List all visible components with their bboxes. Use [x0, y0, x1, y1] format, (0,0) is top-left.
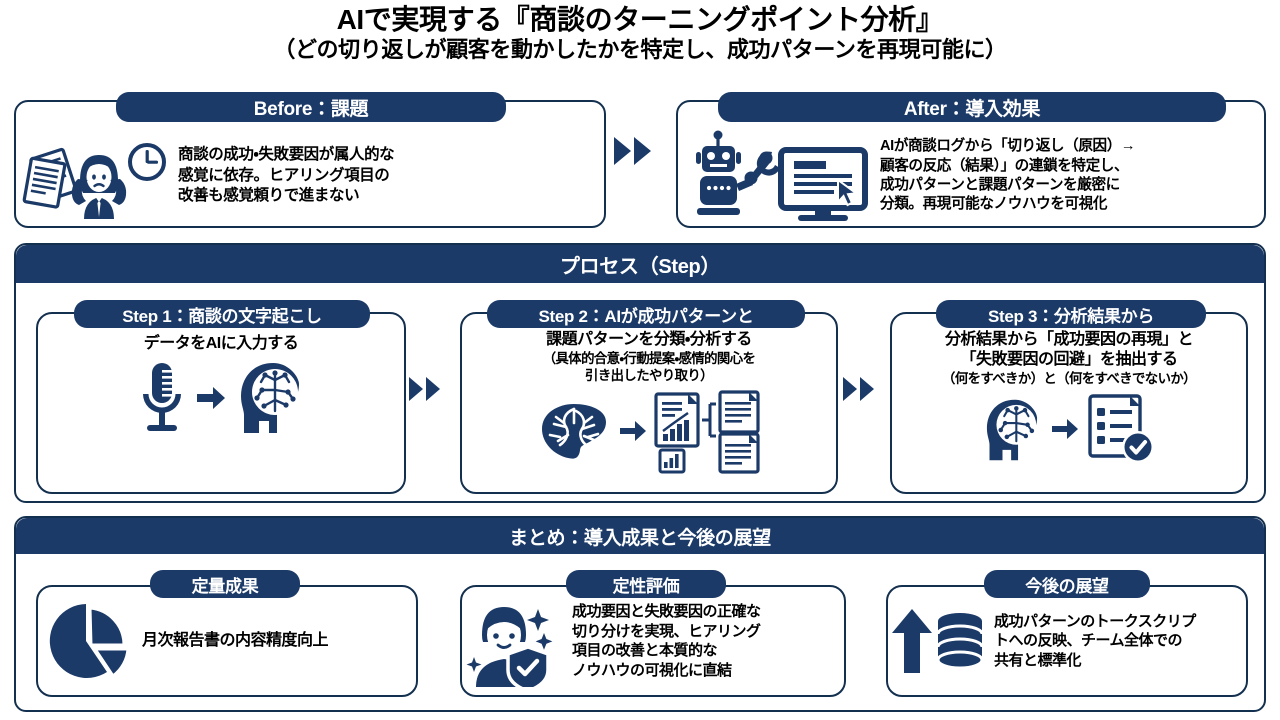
report-documents-icon — [654, 390, 762, 474]
triangle-2 — [426, 377, 440, 401]
step-2-icons — [536, 390, 762, 474]
before-label: Before：課題 — [116, 92, 506, 122]
double-triangle-arrow-icon-step1-step2 — [409, 377, 440, 401]
title-subtitle: （どの切り返しが顧客を動かしたかを特定し、成功パターンを再現可能に） — [0, 37, 1280, 63]
after-body-text: AIが商談ログから「切り返し（原因）→ 顧客の反応（結果）」の連鎖を特定し、 成… — [880, 137, 1135, 215]
robot-monitor-icon — [686, 128, 872, 224]
step-3-icons — [980, 394, 1158, 466]
step-2-lead: 課題パターンを分類・分析する — [546, 330, 752, 350]
brain-head-icon — [980, 397, 1044, 463]
after-label: After：導入効果 — [718, 92, 1226, 122]
summary-card-2-text: 成功要因と失敗要因の正確な 切り分けを実現、ヒアリング 項目の改善と本質的な ノ… — [572, 602, 761, 680]
infographic-page: AIで実現する『商談のターニングポイント分析』 （どの切り返しが顧客を動かしたか… — [0, 0, 1280, 720]
step-1-lead: データをAIに入力する — [144, 334, 299, 354]
summary-card-1-text: 月次報告書の内容精度向上 — [142, 631, 328, 652]
step-2-note: （具体的合意・行動提案・感情的関心を 引き出したやり取り） — [543, 351, 756, 384]
after-content: AIが商談ログから「切り返し（原因）→ 顧客の反応（結果）」の連鎖を特定し、 成… — [686, 126, 1262, 226]
triangle-1 — [614, 137, 631, 165]
triangle-1 — [409, 377, 423, 401]
triangle-2 — [860, 377, 874, 401]
brain-head-icon — [233, 360, 307, 436]
summary-band-label: まとめ：導入成果と今後の展望 — [16, 518, 1264, 554]
stressed-person-documents-clock-icon — [20, 133, 170, 219]
arrow-right-icon — [1050, 417, 1080, 443]
summary-card-3-content: 成功パターンのトークスクリプ トへの反映、チーム全体での 共有と標準化 — [890, 592, 1244, 690]
page-title: AIで実現する『商談のターニングポイント分析』 （どの切り返しが顧客を動かしたか… — [0, 4, 1280, 63]
summary-card-1-content: 月次報告書の内容精度向上 — [44, 592, 410, 690]
brain-icon — [536, 401, 612, 463]
checklist-document-icon — [1086, 394, 1158, 466]
title-main: AIで実現する『商談のターニングポイント分析』 — [0, 4, 1280, 35]
step-1-label: Step 1：商談の文字起こし — [74, 300, 370, 328]
before-content: 商談の成功・失敗要因が属人的な 感覚に依存。ヒアリング項目の 改善も感覚頼りで進… — [20, 126, 600, 226]
step-3-lead: 分析結果から「成功要因の再現」と 「失敗要因の回避」を抽出する — [945, 330, 1193, 370]
arrow-right-icon — [618, 419, 648, 445]
summary-card-3-text: 成功パターンのトークスクリプ トへの反映、チーム全体での 共有と標準化 — [994, 612, 1196, 671]
step-3-note: （何をすべきか）と（何をすべきでないか） — [942, 371, 1196, 387]
pie-chart-icon — [44, 600, 132, 682]
summary-card-3-label: 今後の展望 — [984, 570, 1150, 598]
step-3-content: 分析結果から「成功要因の再現」と 「失敗要因の回避」を抽出する （何をすべきか）… — [892, 330, 1246, 466]
step-3-label: Step 3：分析結果から — [936, 300, 1206, 328]
arrow-right-icon — [195, 384, 227, 412]
microphone-icon — [135, 360, 189, 436]
person-shield-check-icon — [466, 595, 562, 687]
summary-card-1-label: 定量成果 — [150, 570, 300, 598]
summary-card-2-label: 定性評価 — [566, 570, 726, 598]
step-2-label: Step 2：AIが成功パターンと — [487, 300, 805, 328]
double-triangle-arrow-icon-step2-step3 — [843, 377, 874, 401]
before-body-text: 商談の成功・失敗要因が属人的な 感覚に依存。ヒアリング項目の 改善も感覚頼りで進… — [178, 145, 394, 207]
triangle-2 — [634, 137, 651, 165]
double-triangle-arrow-icon — [614, 137, 651, 165]
step-1-content: データをAIに入力する — [40, 334, 402, 436]
summary-card-2-content: 成功要因と失敗要因の正確な 切り分けを実現、ヒアリング 項目の改善と本質的な ノ… — [466, 590, 840, 692]
process-band-label: プロセス（Step） — [16, 245, 1264, 283]
step-1-icons — [135, 360, 307, 436]
up-arrow-database-icon — [890, 603, 984, 679]
step-2-content: 課題パターンを分類・分析する （具体的合意・行動提案・感情的関心を 引き出したや… — [462, 330, 836, 474]
triangle-1 — [843, 377, 857, 401]
